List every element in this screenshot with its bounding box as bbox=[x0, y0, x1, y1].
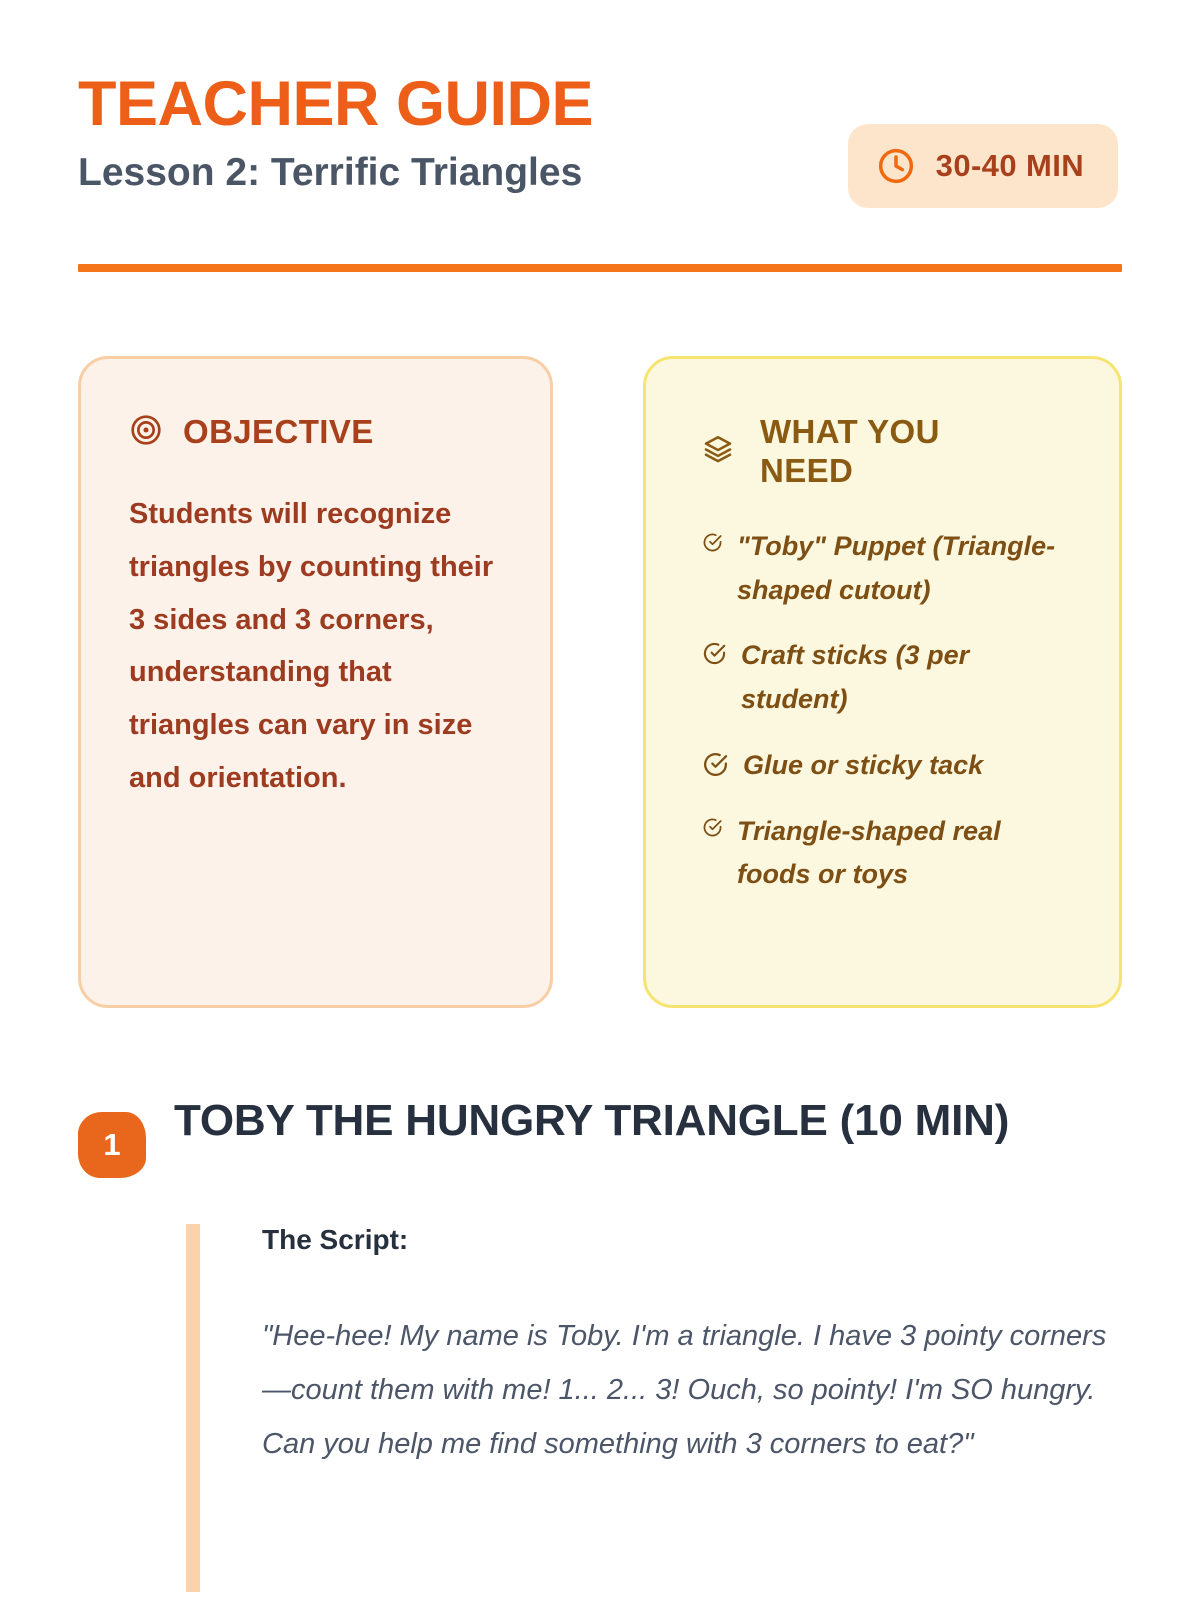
section-header: 1 TOBY THE HUNGRY TRIANGLE (10 MIN) bbox=[78, 1094, 1122, 1178]
teacher-guide-page: TEACHER GUIDE Lesson 2: Terrific Triangl… bbox=[0, 0, 1200, 1600]
lesson-subtitle: Lesson 2: Terrific Triangles bbox=[78, 152, 593, 195]
objective-card-title: OBJECTIVE bbox=[183, 413, 374, 452]
list-item-label: "Toby" Puppet (Triangle-shaped cutout) bbox=[737, 525, 1075, 612]
header-divider bbox=[78, 264, 1122, 272]
clock-icon bbox=[876, 146, 916, 186]
list-item-label: Craft sticks (3 per student) bbox=[741, 634, 1075, 721]
lesson-section-1: 1 TOBY THE HUNGRY TRIANGLE (10 MIN) The … bbox=[78, 1094, 1122, 1592]
header-title-group: TEACHER GUIDE Lesson 2: Terrific Triangl… bbox=[78, 72, 593, 195]
objective-card-body: Students will recognize triangles by cou… bbox=[129, 488, 502, 805]
duration-badge: 30-40 MIN bbox=[848, 124, 1118, 208]
circle-check-icon bbox=[702, 810, 723, 838]
materials-card-title: WHAT YOU NEED bbox=[760, 413, 1010, 491]
objective-card: OBJECTIVE Students will recognize triang… bbox=[78, 356, 553, 1008]
target-icon bbox=[129, 413, 163, 452]
layers-icon bbox=[702, 433, 734, 470]
list-item-label: Glue or sticky tack bbox=[743, 744, 983, 788]
list-item-label: Triangle-shaped real foods or toys bbox=[737, 810, 1075, 897]
script-quote: "Hee-hee! My name is Toby. I'm a triangl… bbox=[262, 1310, 1107, 1472]
step-number-label: 1 bbox=[103, 1127, 120, 1163]
script-block: The Script: "Hee-hee! My name is Toby. I… bbox=[186, 1224, 1122, 1592]
materials-list: "Toby" Puppet (Triangle-shaped cutout) C… bbox=[702, 525, 1075, 897]
list-item: Craft sticks (3 per student) bbox=[702, 634, 1075, 721]
materials-card: WHAT YOU NEED "Toby" Puppet (Triangle-sh… bbox=[643, 356, 1122, 1008]
circle-check-icon bbox=[702, 744, 729, 778]
info-cards: OBJECTIVE Students will recognize triang… bbox=[78, 356, 1122, 1008]
materials-card-header: WHAT YOU NEED bbox=[702, 413, 1075, 491]
objective-card-header: OBJECTIVE bbox=[129, 413, 502, 452]
list-item: "Toby" Puppet (Triangle-shaped cutout) bbox=[702, 525, 1075, 612]
list-item: Glue or sticky tack bbox=[702, 744, 1075, 788]
duration-label: 30-40 MIN bbox=[936, 148, 1084, 184]
page-title: TEACHER GUIDE bbox=[78, 72, 593, 136]
page-header: TEACHER GUIDE Lesson 2: Terrific Triangl… bbox=[78, 0, 1122, 208]
step-number-badge: 1 bbox=[78, 1112, 146, 1178]
list-item: Triangle-shaped real foods or toys bbox=[702, 810, 1075, 897]
section-title: TOBY THE HUNGRY TRIANGLE (10 MIN) bbox=[174, 1094, 1009, 1148]
circle-check-icon bbox=[702, 634, 727, 666]
circle-check-icon bbox=[702, 525, 723, 553]
script-label: The Script: bbox=[262, 1224, 1122, 1256]
